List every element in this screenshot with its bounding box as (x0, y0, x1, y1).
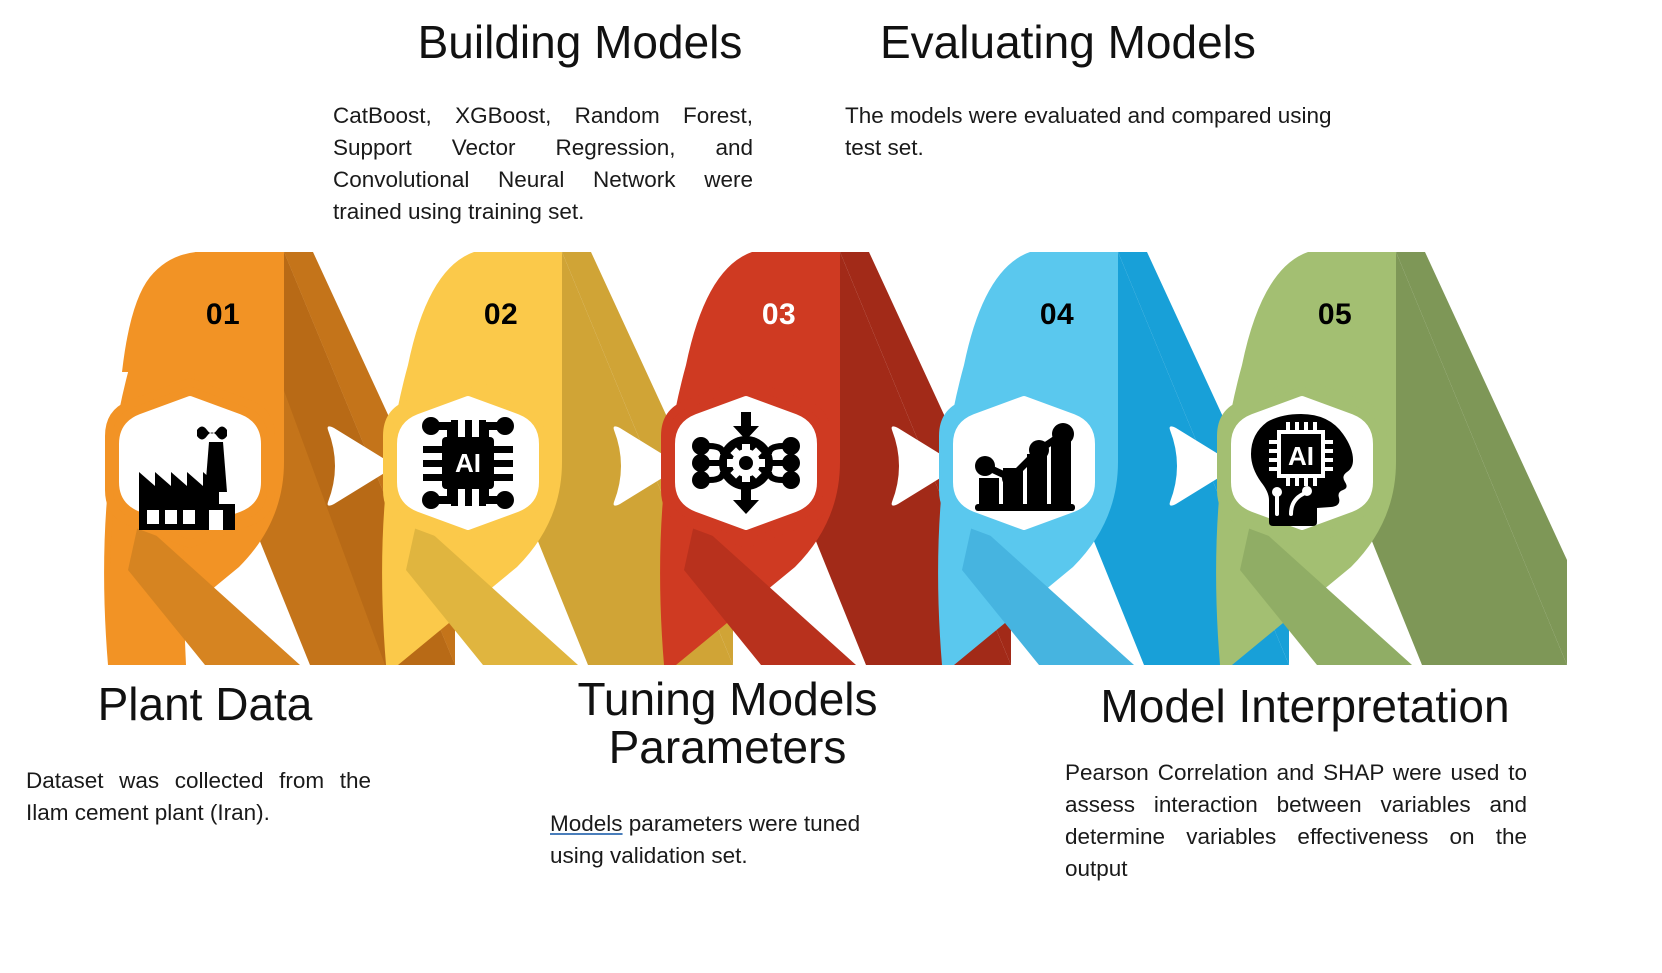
tuning-models-heading: Tuning Models Parameters (555, 675, 900, 772)
step-badge-2: AI (383, 378, 553, 548)
tuning-models-heading-line1: Tuning Models (555, 675, 900, 723)
ai-chip-icon: AI (422, 417, 514, 509)
evaluating-models-body: The models were evaluated and compared u… (845, 100, 1345, 164)
evaluating-models-heading: Evaluating Models (880, 18, 1300, 66)
model-interpretation-heading: Model Interpretation (1070, 682, 1540, 730)
step-badge-5: AI (1217, 378, 1387, 548)
step-badge-4 (939, 378, 1109, 548)
svg-text:AI: AI (1288, 441, 1314, 471)
tuning-models-body: Models parameters were tuned using valid… (550, 808, 905, 872)
model-interpretation-body: Pearson Correlation and SHAP were used t… (1065, 757, 1527, 885)
plant-data-body: Dataset was collected from the Ilam ceme… (26, 765, 371, 829)
step-badge-1 (105, 378, 275, 548)
step-badge-3 (661, 378, 831, 548)
step-number-02: 02 (466, 298, 536, 332)
step-number-05: 05 (1300, 298, 1370, 332)
plant-data-heading: Plant Data (30, 680, 380, 728)
infographic-canvas: 01 02 03 04 05 (0, 0, 1662, 973)
tuning-models-heading-line2: Parameters (555, 723, 900, 771)
building-models-body: CatBoost, XGBoost, Random Forest, Suppor… (333, 100, 753, 228)
step-number-03: 03 (744, 298, 814, 332)
svg-text:AI: AI (455, 448, 481, 478)
step-number-04: 04 (1022, 298, 1092, 332)
building-models-heading: Building Models (370, 18, 790, 66)
spellcheck-flagged-word: Models (550, 811, 623, 836)
arrow-1-2-icon (328, 426, 390, 505)
step-number-01: 01 (188, 298, 258, 332)
